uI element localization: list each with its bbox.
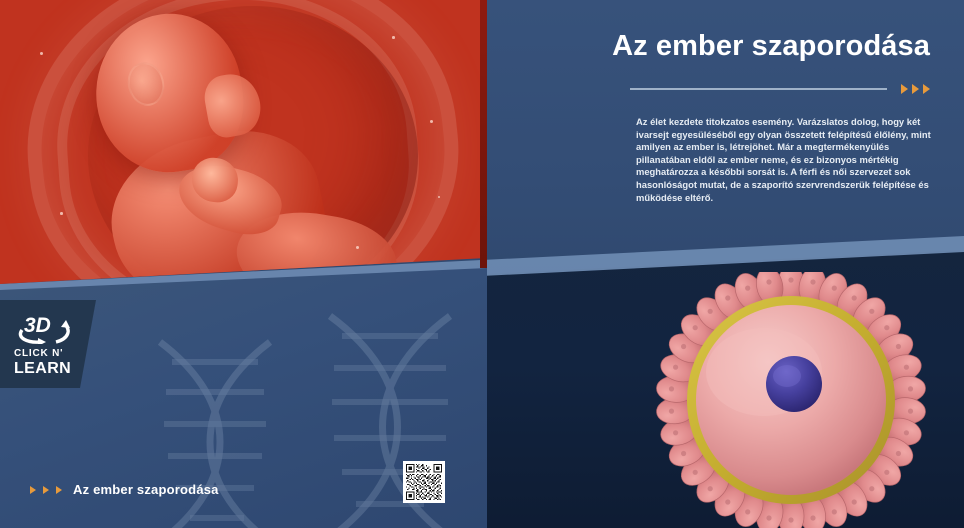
- image-right-edge-strip: [480, 0, 487, 268]
- play-triangle-icon: [43, 486, 49, 494]
- slide-page: 3D CLICK N' LEARN Az ember szaporodása: [0, 0, 964, 528]
- title-rule-row: [630, 84, 930, 94]
- badge-line-1: CLICK N': [14, 348, 63, 359]
- play-triangle-icon: [901, 84, 908, 94]
- fetus-illustration: [0, 0, 486, 290]
- footer: Az ember szaporodása: [30, 482, 219, 497]
- 3d-click-n-learn-badge[interactable]: 3D CLICK N' LEARN: [0, 300, 96, 388]
- title-rule: [630, 88, 887, 90]
- play-triangle-icon: [912, 84, 919, 94]
- intro-paragraph: Az élet kezdete titokzatos esemény. Vará…: [636, 116, 936, 204]
- play-triangle-icon: [30, 486, 36, 494]
- play-triangle-icon: [56, 486, 62, 494]
- rotate-arrow-icon: 3D: [14, 310, 76, 344]
- page-title: Az ember szaporodása: [510, 30, 930, 63]
- svg-text:3D: 3D: [24, 314, 51, 337]
- footer-label: Az ember szaporodása: [73, 482, 219, 497]
- qr-code-icon[interactable]: [403, 461, 445, 503]
- play-triangle-icon: [923, 84, 930, 94]
- ovum-cell-illustration: [646, 272, 936, 528]
- badge-line-2: LEARN: [14, 360, 71, 378]
